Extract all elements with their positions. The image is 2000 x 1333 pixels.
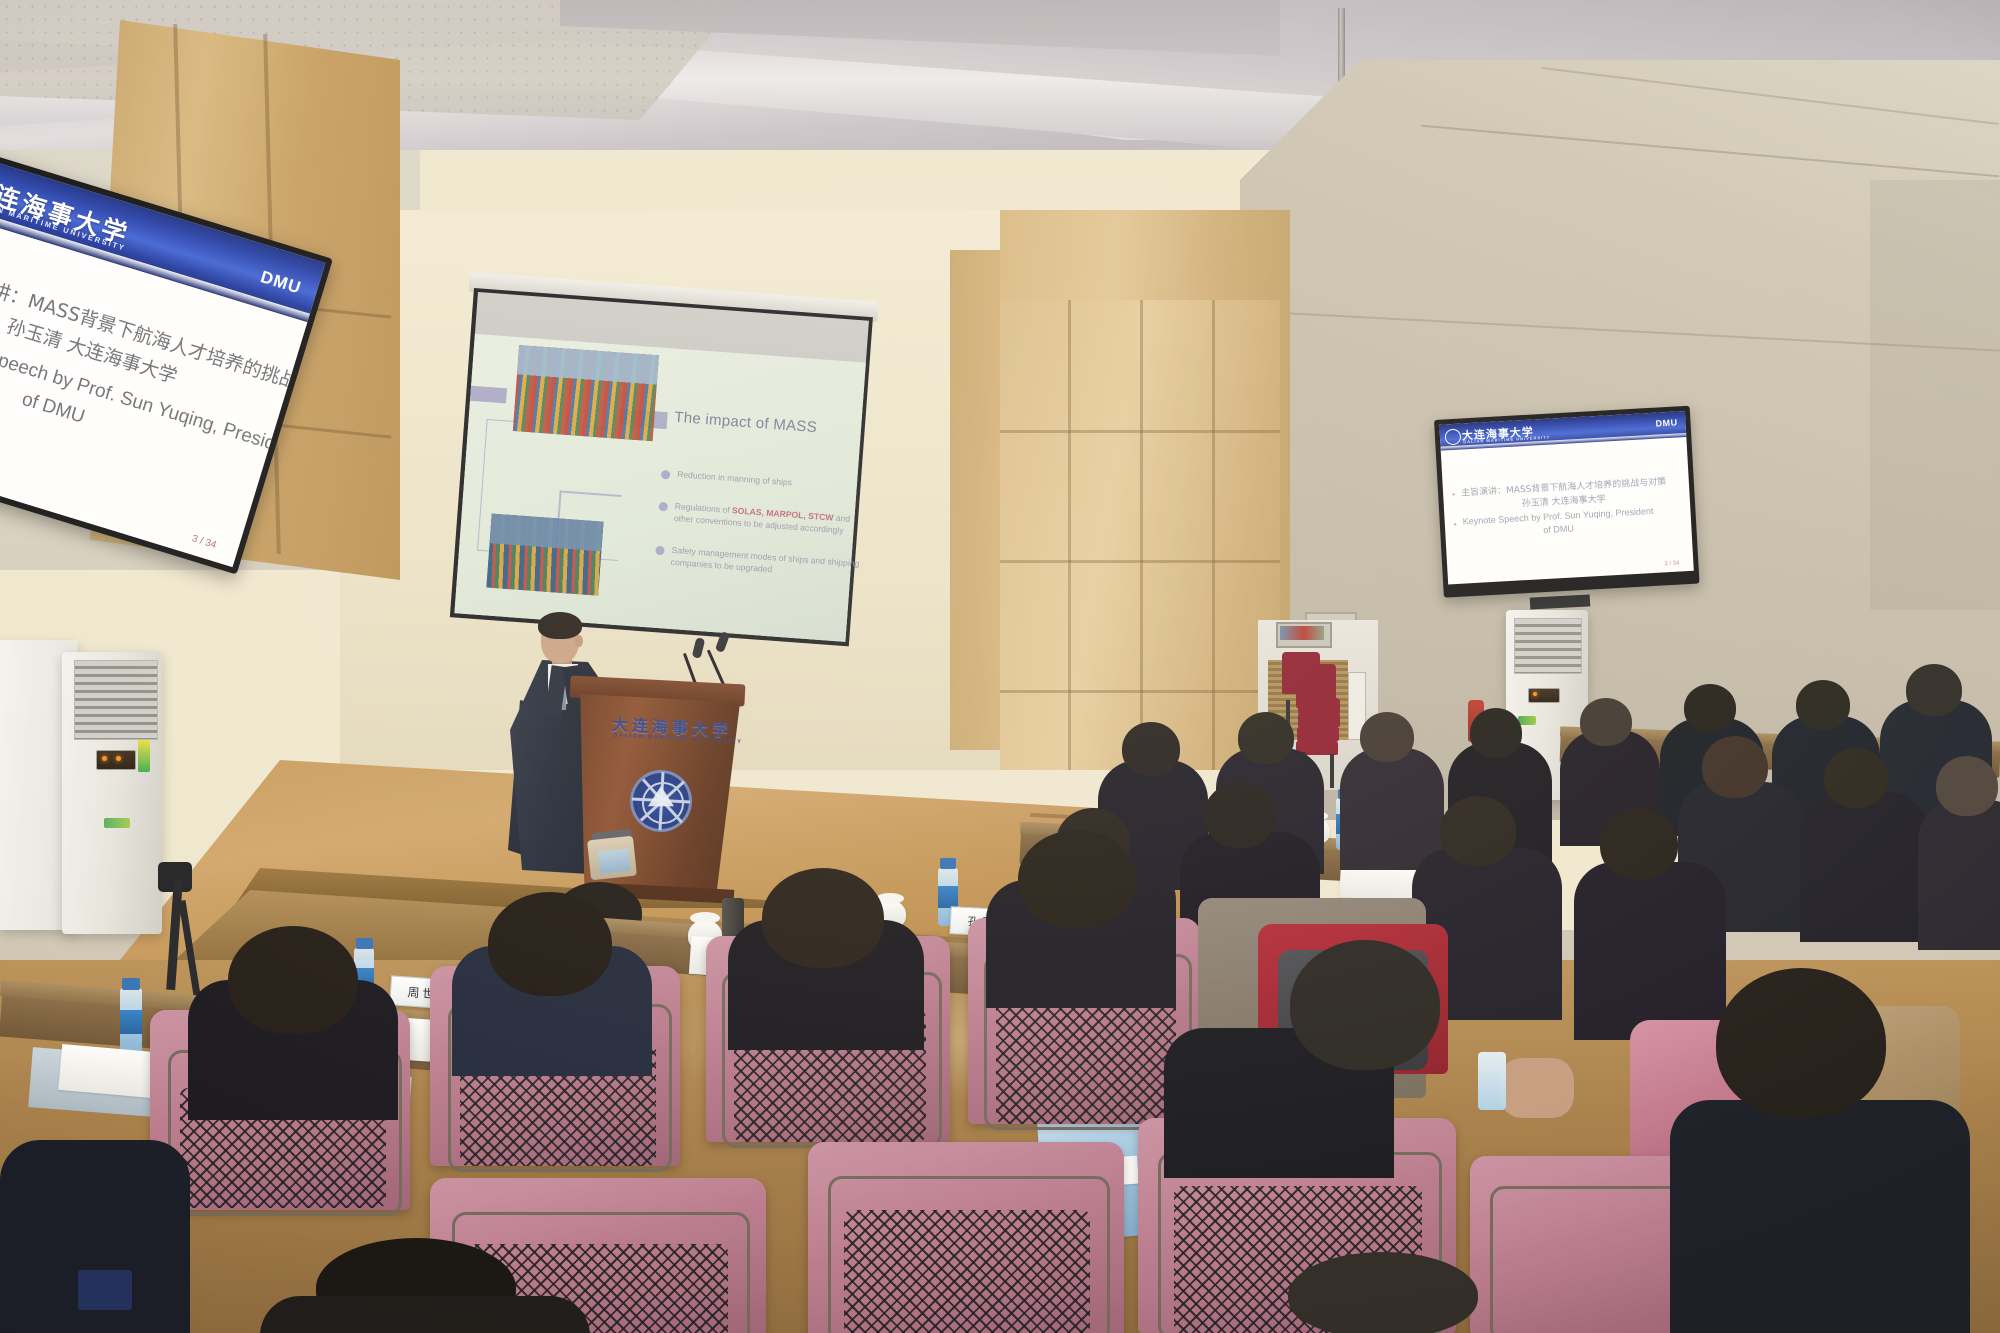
audience-head bbox=[1796, 680, 1850, 730]
right-wall-display[interactable]: 大连海事大学 DALIAN MARITIME UNIVERSITY DMU • … bbox=[1434, 406, 1700, 598]
partition-seam bbox=[1000, 560, 1280, 563]
audience-person bbox=[1800, 792, 1928, 942]
partition-seam bbox=[1140, 300, 1143, 770]
bottle-label bbox=[120, 1010, 142, 1034]
energy-label-sticker bbox=[138, 740, 150, 772]
right-display-line-en-2: of DMU bbox=[1543, 523, 1574, 535]
audience-head bbox=[762, 868, 884, 968]
audience-head bbox=[1360, 712, 1414, 762]
right-display-bullet-marker: • bbox=[1452, 490, 1455, 499]
audience-head bbox=[1702, 736, 1768, 798]
projection-screen: The impact of MASS Reduction in manning … bbox=[454, 292, 869, 642]
dmu-badge: DMU bbox=[1655, 417, 1678, 428]
slide-bullet-text: Safety management modes of ships and shi… bbox=[670, 545, 861, 582]
seat-mesh-pocket bbox=[844, 1210, 1090, 1333]
university-seal-icon bbox=[1445, 429, 1462, 446]
audience-person bbox=[1918, 800, 2000, 950]
audience-head bbox=[1018, 830, 1136, 928]
ac-indicator-light bbox=[102, 756, 107, 761]
audience-head bbox=[488, 892, 612, 996]
ac-brand-mark bbox=[104, 818, 130, 828]
slide-content: The impact of MASS Reduction in manning … bbox=[454, 334, 865, 642]
speaker-ear bbox=[575, 635, 583, 647]
seat-badge bbox=[78, 1270, 132, 1310]
audience-head bbox=[228, 926, 358, 1034]
audience-head bbox=[1580, 698, 1632, 746]
audience-person bbox=[1340, 748, 1444, 870]
audience-head bbox=[1824, 748, 1888, 808]
slide-header-bar: 大连海事大学 DALIAN MARITIME UNIVERSITY DMU bbox=[1439, 411, 1686, 451]
audience-head bbox=[1238, 712, 1294, 764]
ac-vent-grille bbox=[1514, 618, 1582, 674]
bottle-cap bbox=[122, 978, 140, 990]
bottle-cap bbox=[356, 938, 373, 949]
water-bottle-held bbox=[1478, 1052, 1506, 1110]
audience-head bbox=[1470, 708, 1522, 758]
right-display-screen: 大连海事大学 DALIAN MARITIME UNIVERSITY DMU • … bbox=[1439, 411, 1694, 584]
speaker-hair bbox=[538, 612, 582, 639]
audience-person-foreground bbox=[1670, 1100, 1970, 1333]
audience-person bbox=[1574, 862, 1726, 1040]
slide-bullet: Reduction in manning of ships bbox=[661, 468, 867, 495]
audience-head bbox=[1204, 782, 1276, 848]
dmu-badge: DMU bbox=[258, 267, 304, 298]
camera-screen bbox=[598, 848, 630, 873]
slide-page-number: 3 / 34 bbox=[190, 533, 217, 551]
audience-head bbox=[1440, 796, 1516, 866]
audience-head bbox=[1290, 940, 1440, 1070]
partition-seam bbox=[1068, 300, 1071, 770]
energy-label-sticker bbox=[1518, 716, 1536, 725]
audience-head-foreground bbox=[1288, 1252, 1478, 1333]
ac-vent-grille bbox=[74, 660, 158, 740]
stacked-chair bbox=[1297, 726, 1339, 741]
slide-photo-container-port bbox=[513, 345, 659, 441]
seat-mesh-pocket bbox=[996, 992, 1176, 1124]
audience-head bbox=[1122, 722, 1180, 776]
bullet-dot-icon bbox=[661, 470, 671, 480]
slide-title: The impact of MASS bbox=[674, 409, 818, 436]
audience-head bbox=[1936, 756, 1998, 816]
right-display-bullet-marker: • bbox=[1454, 520, 1457, 529]
ac-indicator-light bbox=[1533, 692, 1537, 696]
partition-seam bbox=[1000, 430, 1280, 433]
audience-head bbox=[1600, 808, 1678, 880]
audience-head bbox=[1906, 664, 1962, 716]
slide-accent-block-left bbox=[470, 386, 507, 404]
bullet-dot-icon bbox=[655, 546, 665, 556]
ac-indicator-light bbox=[116, 756, 121, 761]
audience-hand bbox=[1500, 1058, 1574, 1118]
bullet-dot-icon bbox=[658, 502, 668, 512]
partition-seam bbox=[1000, 690, 1280, 693]
chair-leg bbox=[1330, 754, 1334, 788]
audience-head bbox=[1684, 684, 1736, 732]
audience-person-foreground bbox=[260, 1296, 590, 1333]
audience-head bbox=[1716, 968, 1886, 1118]
slide-bullet-text: Reduction in manning of ships bbox=[677, 469, 867, 494]
bottle-label bbox=[938, 886, 958, 908]
partition-seam bbox=[1212, 300, 1215, 770]
slide-page-number: 3 / 34 bbox=[1664, 561, 1679, 568]
tea-cup-lid bbox=[690, 912, 720, 924]
slide-bullet: Safety management modes of ships and shi… bbox=[654, 544, 861, 582]
slide-bullet-text: Regulations of SOLAS, MARPOL, STCW and o… bbox=[674, 501, 865, 538]
wall-panel-edge bbox=[1870, 180, 2000, 610]
slide-photo-container-ship bbox=[486, 514, 603, 596]
stacked-chair bbox=[1298, 712, 1340, 727]
bottle-cap bbox=[940, 858, 956, 869]
slide-bullet: Regulations of SOLAS, MARPOL, STCW and o… bbox=[658, 500, 865, 538]
photo-scene: EPSON bbox=[0, 0, 2000, 1333]
picture-image bbox=[1280, 626, 1324, 640]
